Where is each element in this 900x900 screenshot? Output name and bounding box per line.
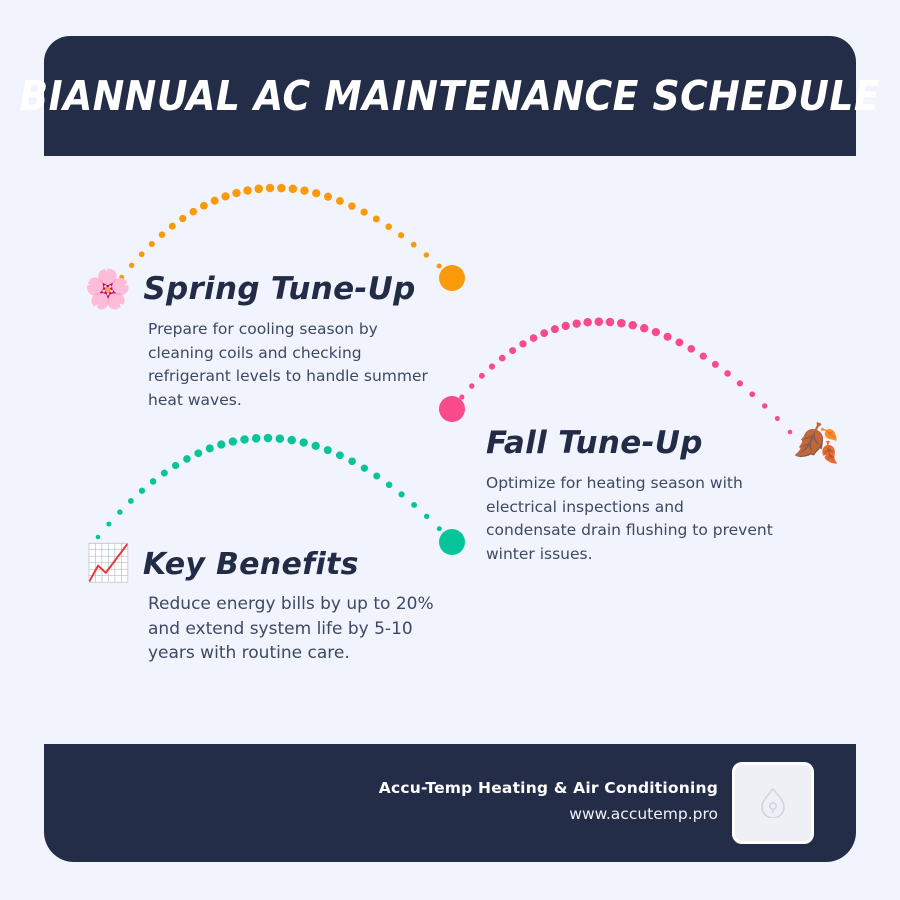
arc-dot	[172, 462, 179, 469]
arc-dot	[551, 325, 559, 333]
arc-dot	[336, 451, 344, 459]
arc-dot	[675, 338, 683, 346]
section-fall: Fall Tune-Up 🍂 Optimize for heating seas…	[486, 424, 826, 566]
arc-dot	[617, 319, 626, 328]
arc-dot	[724, 370, 731, 377]
arc-dot	[540, 329, 548, 337]
arc-dot	[640, 324, 648, 332]
footer-website-url[interactable]: www.accutemp.pro	[379, 800, 718, 829]
arc-dot	[348, 457, 356, 465]
benefits-arc-endpoint	[439, 529, 465, 555]
arc-dot	[652, 328, 660, 336]
footer-company-name: Accu-Temp Heating & Air Conditioning	[379, 777, 718, 800]
arc-dot	[459, 395, 464, 400]
fall-arc	[439, 317, 792, 434]
infographic-canvas: BIANNUAL AC MAINTENANCE SCHEDULE 🌸 Sprin…	[0, 0, 900, 900]
section-fall-body: Optimize for heating season with electri…	[486, 472, 776, 566]
arc-dot	[276, 434, 285, 443]
arc-dot	[489, 363, 495, 369]
arc-dot	[289, 185, 298, 194]
arc-dot	[509, 347, 516, 354]
arc-dot	[594, 317, 603, 326]
arc-dot	[499, 355, 506, 362]
arc-dot	[264, 434, 273, 443]
arc-dot	[385, 223, 392, 230]
fall-arc-endpoint	[439, 396, 465, 422]
arc-dot	[398, 232, 404, 238]
arc-dot	[200, 202, 208, 210]
arc-dot	[229, 437, 237, 445]
footer-bar: Accu-Temp Heating & Air Conditioning www…	[44, 744, 856, 862]
footer-logo-placeholder	[732, 762, 814, 844]
fallen-leaves-icon: 🍂	[793, 424, 840, 462]
arc-dot	[348, 202, 356, 210]
arc-dot	[169, 223, 176, 230]
arc-dot	[583, 318, 592, 327]
arc-dot	[687, 345, 695, 353]
arc-dot	[243, 186, 252, 195]
arc-dot	[161, 470, 168, 477]
arc-dot	[266, 184, 275, 193]
arc-dot	[398, 491, 404, 497]
arc-dot	[562, 322, 570, 330]
section-fall-title: Fall Tune-Up	[486, 425, 703, 461]
arc-dot	[217, 440, 225, 448]
arc-dot	[299, 438, 307, 446]
arc-dot	[139, 251, 145, 257]
arc-dot	[424, 514, 429, 519]
arc-dot	[737, 380, 743, 386]
section-fall-head: Fall Tune-Up 🍂	[486, 424, 826, 462]
arc-dot	[437, 526, 442, 531]
arc-dot	[106, 522, 111, 527]
arc-dot	[211, 197, 219, 205]
arc-dot	[373, 215, 380, 222]
section-benefits-head: 📈 Key Benefits	[86, 546, 416, 582]
arc-dot	[519, 340, 526, 347]
arc-dot	[411, 502, 417, 508]
footer-text-block: Accu-Temp Heating & Air Conditioning www…	[379, 777, 718, 830]
arc-dot	[572, 319, 580, 327]
arc-dot	[194, 449, 202, 457]
arc-dot	[424, 252, 429, 257]
arc-dot	[664, 333, 672, 341]
arc-dot	[373, 473, 380, 480]
section-benefits-body: Reduce energy bills by up to 20% and ext…	[148, 592, 438, 666]
header-bar: BIANNUAL AC MAINTENANCE SCHEDULE	[44, 36, 856, 156]
arc-dot	[277, 184, 286, 193]
logo-placeholder-icon	[760, 788, 786, 818]
arc-dot	[252, 434, 261, 443]
benefits-arc	[96, 434, 465, 555]
arc-dot	[749, 391, 755, 397]
section-benefits: 📈 Key Benefits Reduce energy bills by up…	[86, 546, 416, 666]
arc-dot	[775, 416, 780, 421]
arc-dot	[189, 208, 197, 216]
section-spring-head: 🌸 Spring Tune-Up	[84, 270, 414, 308]
arc-dot	[96, 535, 101, 540]
chart-increasing-icon: 📈	[86, 546, 131, 582]
arc-dot	[240, 435, 249, 444]
arc-dot	[117, 509, 122, 514]
arc-dot	[300, 186, 308, 194]
arc-dot	[221, 192, 229, 200]
arc-dot	[712, 361, 719, 368]
arc-dot	[287, 436, 296, 445]
section-spring: 🌸 Spring Tune-Up Prepare for cooling sea…	[84, 270, 414, 412]
arc-dot	[254, 185, 263, 194]
arc-dot	[312, 189, 320, 197]
section-spring-title: Spring Tune-Up	[143, 271, 415, 307]
arc-dot	[128, 498, 134, 504]
arc-dot	[159, 231, 166, 238]
arc-dot	[411, 242, 417, 248]
arc-dot	[183, 455, 191, 463]
arc-dot	[324, 446, 332, 454]
arc-dot	[149, 241, 155, 247]
arc-dot	[361, 465, 368, 472]
arc-dot	[469, 383, 474, 388]
arc-dot	[139, 488, 145, 494]
arc-dot	[530, 334, 538, 342]
arc-dot	[606, 318, 615, 327]
arc-dot	[324, 193, 332, 201]
spring-arc-endpoint	[439, 265, 465, 291]
arc-dot	[336, 197, 344, 205]
arc-dot	[762, 403, 767, 408]
arc-dot	[479, 373, 485, 379]
section-benefits-title: Key Benefits	[143, 547, 359, 582]
section-spring-body: Prepare for cooling season by cleaning c…	[148, 318, 433, 412]
arc-dot	[360, 208, 367, 215]
arc-dot	[232, 189, 240, 197]
arc-dot	[312, 442, 320, 450]
arc-dot	[700, 353, 707, 360]
arc-dot	[179, 215, 186, 222]
arc-dot	[206, 444, 214, 452]
arc-dot	[386, 481, 393, 488]
cherry-blossom-icon: 🌸	[84, 270, 131, 308]
arc-dot	[150, 478, 157, 485]
arc-dot	[437, 264, 442, 269]
page-title: BIANNUAL AC MAINTENANCE SCHEDULE	[20, 72, 881, 120]
arc-dot	[628, 321, 637, 330]
